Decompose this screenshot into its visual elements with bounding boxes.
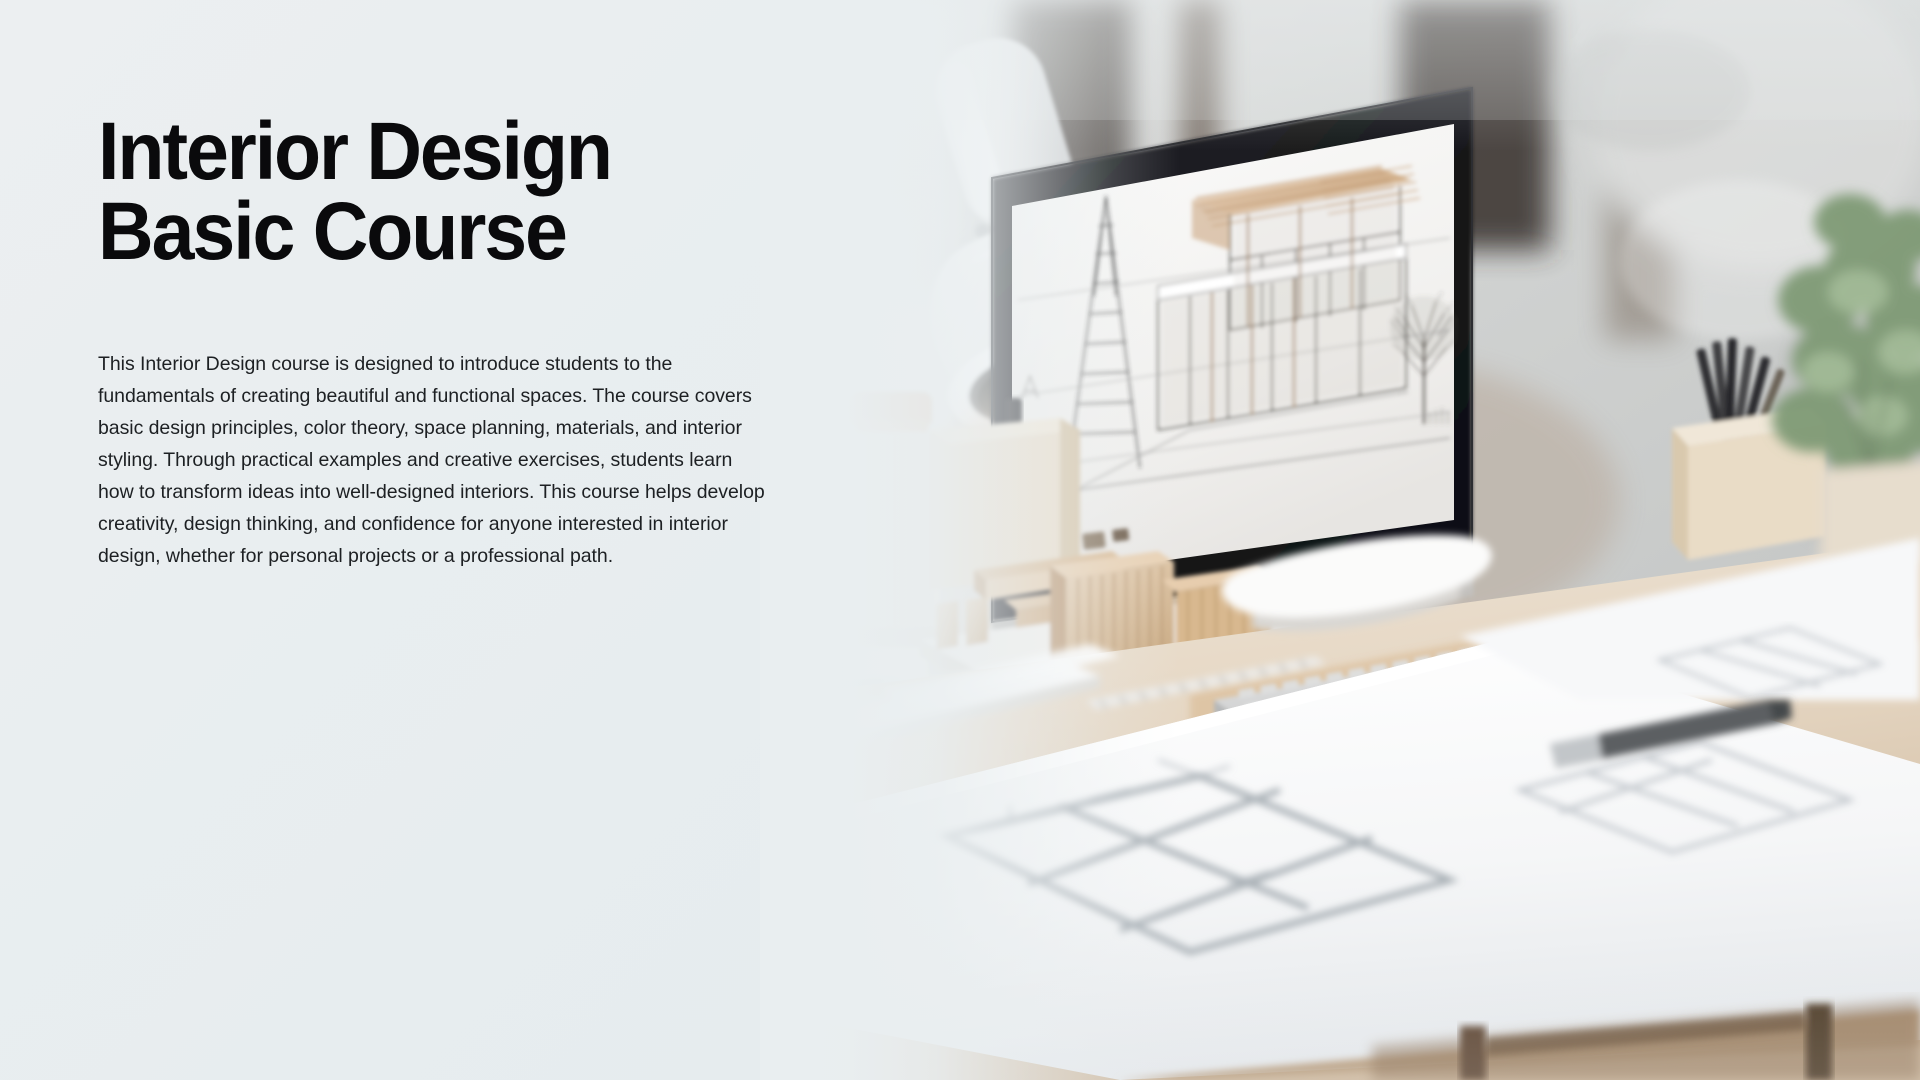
workspace-photo-svg [760,0,1920,1080]
course-description: This Interior Design course is designed … [98,348,770,572]
page-title: Interior Design Basic Course [98,112,812,273]
corrugated-paper-tower [840,392,940,678]
workspace-photo [760,0,1920,1080]
hero-slide: Interior Design Basic Course This Interi… [0,0,1920,1080]
text-column: Interior Design Basic Course This Interi… [0,0,800,1080]
